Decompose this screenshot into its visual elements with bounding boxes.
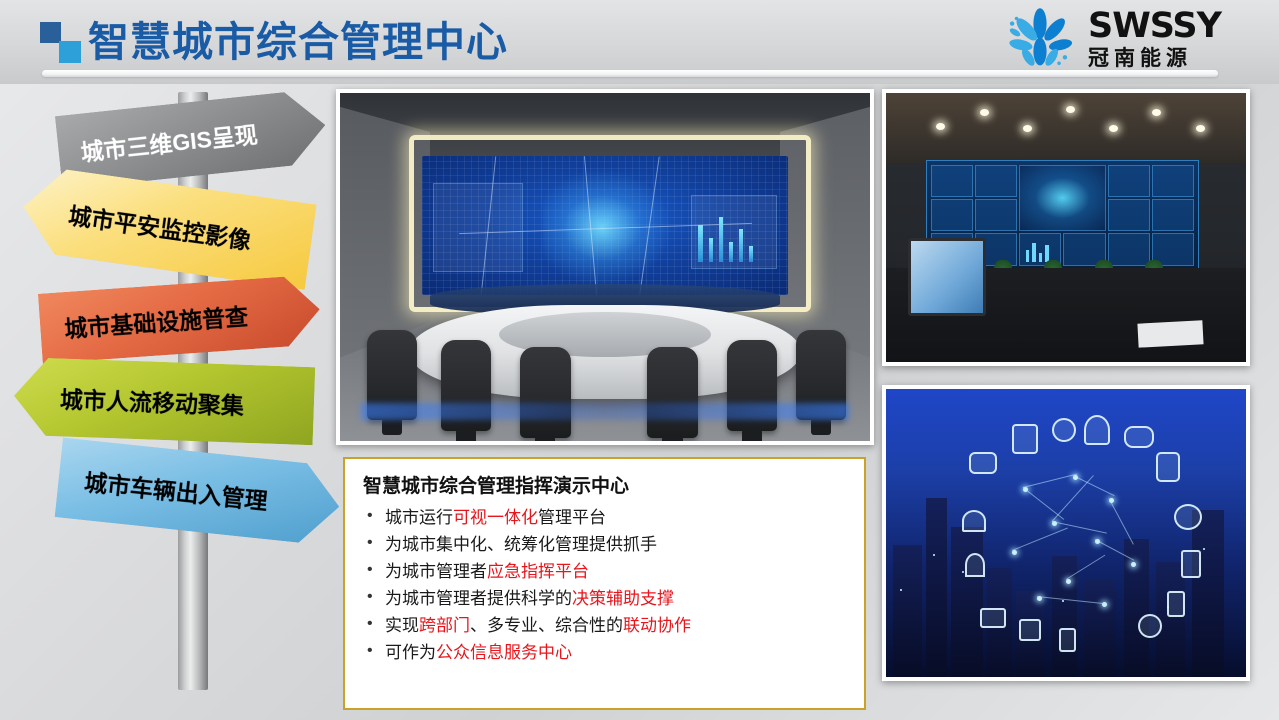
slide-header: 智慧城市综合管理中心 [0, 0, 1279, 84]
description-panel: 智慧城市综合管理指挥演示中心 城市运行可视一体化管理平台 为城市集中化、统筹化管… [343, 457, 866, 710]
smart-city-illustration [886, 389, 1246, 677]
description-bullet-list: 城市运行可视一体化管理平台 为城市集中化、统筹化管理提供抓手 为城市管理者应急指… [361, 504, 848, 666]
laptop-icon [980, 608, 1006, 628]
plain-text: 为城市集中化、统筹化管理提供抓手 [385, 535, 657, 554]
phone-icon [1059, 628, 1076, 652]
network-link [1109, 499, 1134, 545]
water-droplet-flower-logo-icon [1002, 6, 1078, 72]
dashboard-cell [975, 165, 1017, 197]
logo-brand-subtitle: 冠南能源 [1088, 48, 1221, 69]
dashboard-cell [1108, 233, 1150, 265]
decoration-square-dark [40, 22, 61, 43]
sign-label: 城市平安监控影像 [67, 196, 254, 255]
window-light [962, 571, 964, 573]
sign-label: 城市三维GIS呈现 [79, 115, 259, 167]
control-room-photo-inner [340, 93, 870, 441]
logo-brand-name: SWSSY [1088, 9, 1221, 44]
person-icon [1052, 418, 1076, 442]
dashboard-wall-photo-inner [886, 93, 1246, 362]
signpost-graphic: 城市三维GIS呈现 城市平安监控影像 城市基础设施普查 城市人流移动聚集 城市车… [0, 84, 340, 720]
list-item: 为城市管理者提供科学的决策辅助支撑 [361, 585, 848, 612]
screen-left-panel [433, 183, 523, 271]
ceiling-light [936, 123, 945, 130]
sign-label: 城市人流移动聚集 [59, 380, 244, 420]
screen-bar [729, 242, 733, 262]
building [1192, 510, 1224, 677]
cloud-icon [969, 452, 997, 474]
page-title: 智慧城市综合管理中心 [88, 8, 508, 68]
company-logo: SWSSY 冠南能源 [1002, 6, 1221, 72]
plain-text: 为城市管理者提供科学的 [385, 589, 572, 608]
plain-text: 、多专业、综合性的 [470, 616, 623, 635]
sign-city-security-monitoring[interactable]: 城市平安监控影像 [17, 164, 316, 290]
network-node [1012, 550, 1017, 555]
dashboard-cell [1108, 199, 1150, 231]
dashboard-cell [1152, 165, 1194, 197]
list-item: 城市运行可视一体化管理平台 [361, 504, 848, 531]
window-light [1203, 548, 1205, 550]
floor-accent-lighting [361, 403, 849, 420]
ceiling-light [980, 109, 989, 116]
mini-bar [1026, 250, 1030, 262]
highlighted-text: 决策辅助支撑 [572, 589, 674, 608]
tower-icon [1084, 415, 1110, 445]
tablet-icon [1019, 619, 1041, 641]
highlighted-text: 应急指挥平台 [487, 562, 589, 581]
highlighted-text: 公众信息服务中心 [436, 643, 572, 662]
list-item: 实现跨部门、多专业、综合性的联动协作 [361, 612, 848, 639]
control-room-photo [336, 89, 874, 445]
header-decoration-squares [40, 22, 82, 64]
screen-bar [749, 246, 753, 262]
dashboard-cell [931, 165, 973, 197]
home-icon [962, 510, 986, 532]
dashboard-cell [1108, 165, 1150, 197]
list-item: 为城市管理者应急指挥平台 [361, 558, 848, 585]
dashboard-wall-illustration [886, 93, 1246, 362]
decoration-square-light [59, 41, 81, 63]
list-item: 为城市集中化、统筹化管理提供抓手 [361, 531, 848, 558]
dashboard-cell [975, 199, 1017, 231]
desktop-monitor [908, 238, 986, 317]
smart-city-photo-inner [886, 389, 1246, 677]
sign-city-crowd-movement[interactable]: 城市人流移动聚集 [13, 357, 316, 445]
video-wall-screen [422, 156, 788, 295]
plain-text: 为城市管理者 [385, 562, 487, 581]
slide-root: 智慧城市综合管理中心 [0, 0, 1279, 720]
building [926, 498, 948, 677]
sign-label: 城市基础设施普查 [63, 297, 249, 344]
network-link [1073, 475, 1115, 496]
screen-right-panel [691, 195, 777, 269]
building-icon [1012, 424, 1038, 454]
network-link [1051, 476, 1093, 523]
meter-icon [1167, 591, 1185, 617]
network-link [1023, 473, 1078, 488]
dashboard-wall-photo [882, 89, 1250, 366]
sign-city-infrastructure-survey[interactable]: 城市基础设施普查 [38, 274, 322, 363]
building [1084, 579, 1116, 677]
screen-bar [709, 238, 713, 263]
highlighted-text: 可视一体化 [453, 508, 538, 527]
building [1124, 539, 1149, 677]
window-light [933, 554, 935, 556]
plain-text: 可作为 [385, 643, 436, 662]
window-light [900, 589, 902, 591]
control-room-illustration [340, 93, 870, 441]
sign-city-vehicle-access[interactable]: 城市车辆出入管理 [55, 437, 344, 546]
mini-bar [1045, 245, 1049, 261]
train-icon [1156, 452, 1180, 482]
building [893, 545, 922, 677]
network-link [1012, 528, 1068, 551]
network-node [1131, 562, 1136, 567]
dashboard-cell-map [1019, 165, 1106, 231]
screen-bar [739, 229, 743, 262]
logo-text-block: SWSSY 冠南能源 [1088, 9, 1221, 69]
highlighted-text: 跨部门 [419, 616, 470, 635]
list-item: 可作为公众信息服务中心 [361, 639, 848, 666]
building [951, 527, 983, 677]
description-title: 智慧城市综合管理指挥演示中心 [363, 471, 848, 498]
mini-bar [1039, 253, 1043, 262]
bulb-icon [1138, 614, 1162, 638]
highlighted-text: 联动协作 [623, 616, 691, 635]
ceiling-light [1196, 125, 1205, 132]
smart-city-network-photo [882, 385, 1250, 681]
camera-icon [1174, 504, 1202, 530]
signal-tower-icon [965, 553, 985, 577]
plain-text: 城市运行 [385, 508, 453, 527]
plain-text: 管理平台 [538, 508, 606, 527]
screen-bar [698, 225, 702, 263]
paper-documents [1137, 320, 1203, 348]
network-link [1051, 521, 1106, 534]
dashboard-cell [1152, 199, 1194, 231]
chair [647, 347, 697, 437]
window-light [1062, 600, 1064, 602]
dashboard-cell [931, 199, 973, 231]
chair [520, 347, 570, 437]
car-icon [1124, 426, 1154, 448]
plain-text: 实现 [385, 616, 419, 635]
mini-bar [1032, 243, 1036, 262]
screen-bar [719, 217, 723, 262]
sign-label: 城市车辆出入管理 [83, 463, 270, 516]
device-icon [1181, 550, 1201, 578]
